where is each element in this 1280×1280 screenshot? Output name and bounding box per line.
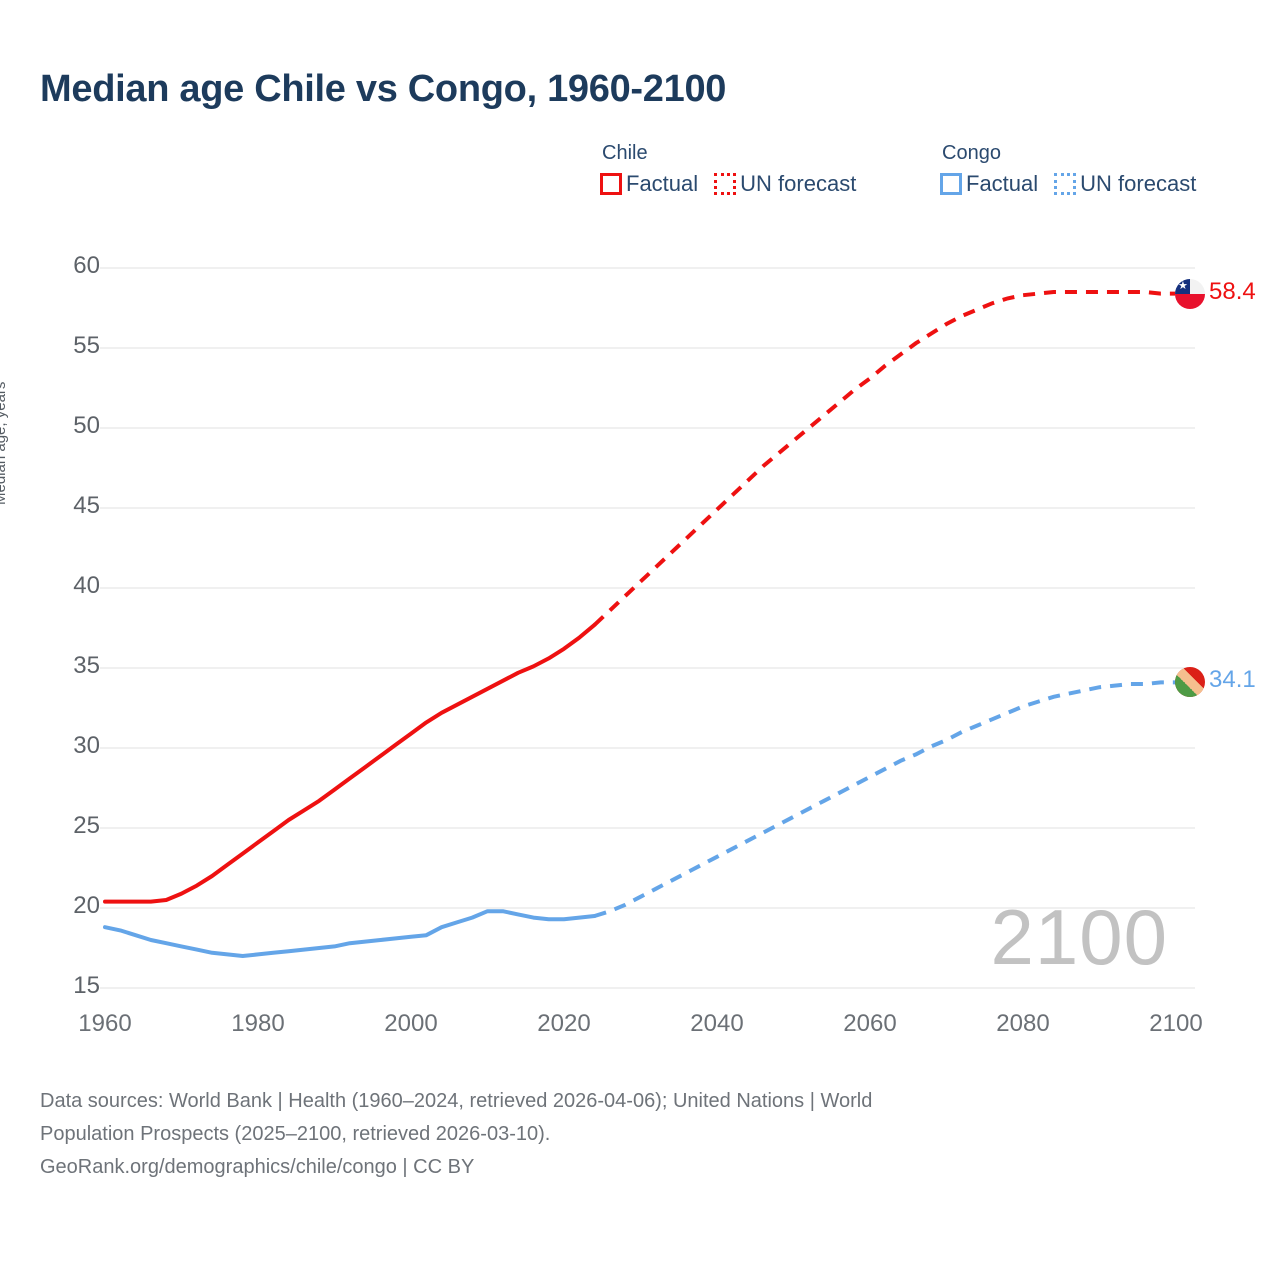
y-axis-tick-label: 60 (42, 252, 100, 280)
x-axis-tick-label: 2000 (366, 1010, 456, 1038)
y-axis-tick-label: 20 (42, 892, 100, 920)
series-line-chile-factual (105, 625, 595, 902)
y-axis-label: Median age, years (0, 382, 9, 505)
footer-line-1: Data sources: World Bank | Health (1960–… (40, 1086, 1180, 1117)
y-axis-tick-label: 55 (42, 332, 100, 360)
chile-flag-icon: ★ (1175, 279, 1205, 309)
series-line-chile-forecast (595, 292, 1176, 625)
y-axis-tick-label: 45 (42, 492, 100, 520)
x-axis-tick-label: 1960 (60, 1010, 150, 1038)
y-axis-tick-label: 40 (42, 572, 100, 600)
y-axis-tick-label: 15 (42, 972, 100, 1000)
x-axis-tick-label: 1980 (213, 1010, 303, 1038)
x-axis-tick-label: 2080 (978, 1010, 1068, 1038)
congo-end-value: 34.1 (1209, 666, 1256, 694)
congo-flag-icon (1175, 667, 1205, 697)
x-axis-tick-label: 2020 (519, 1010, 609, 1038)
series-line-congo-forecast (595, 682, 1176, 916)
x-axis-tick-label: 2040 (672, 1010, 762, 1038)
y-axis-tick-label: 25 (42, 812, 100, 840)
series-line-congo-factual (105, 911, 595, 956)
footer-line-2: Population Prospects (2025–2100, retriev… (40, 1119, 1180, 1150)
chile-end-value: 58.4 (1209, 278, 1256, 306)
x-axis-tick-label: 2060 (825, 1010, 915, 1038)
y-axis-tick-label: 35 (42, 652, 100, 680)
footer-sources: Data sources: World Bank | Health (1960–… (40, 1086, 1180, 1185)
x-axis-tick-label: 2100 (1131, 1010, 1221, 1038)
y-axis-tick-label: 50 (42, 412, 100, 440)
footer-line-3[interactable]: GeoRank.org/demographics/chile/congo | C… (40, 1152, 1180, 1183)
year-watermark: 2100 (990, 898, 1168, 976)
chart-plot-area: Median age, years 15202530354045505560 1… (0, 0, 1280, 1050)
y-axis-tick-label: 30 (42, 732, 100, 760)
